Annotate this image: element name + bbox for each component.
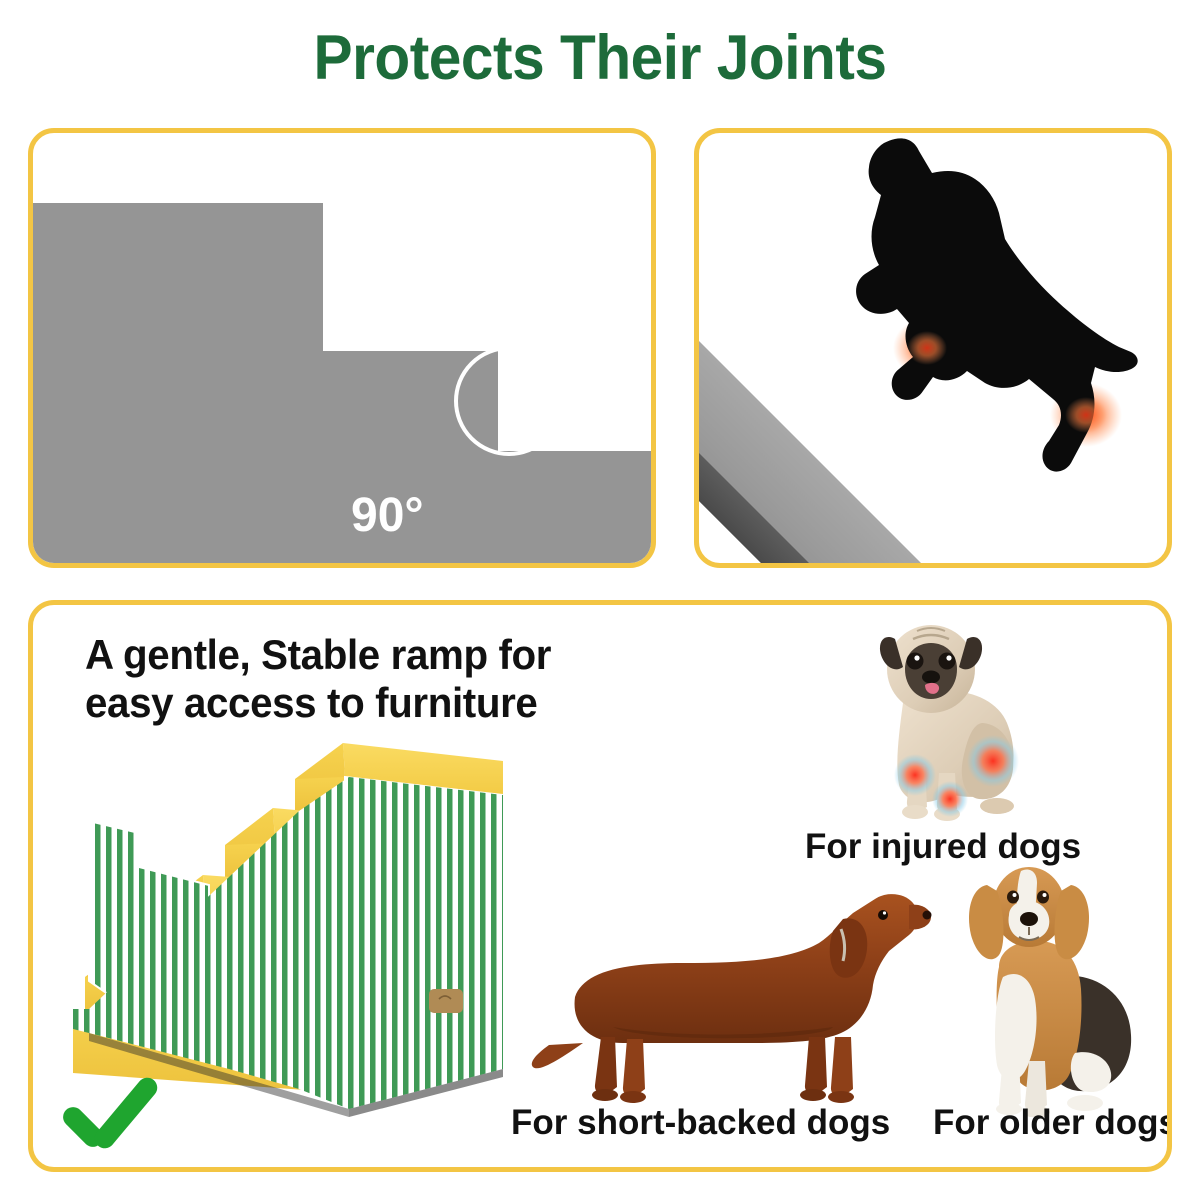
brand-logo-tag [429,989,463,1013]
dog-photo-pug [833,613,1063,838]
stair-riser-tall [28,203,323,568]
right-angle-arc [454,346,564,456]
check-mark-icon [57,1075,177,1165]
dog-photo-beagle [933,857,1163,1117]
ramp-illustration [699,133,1167,563]
angle-label: 90° [351,488,424,543]
pain-glow [967,735,1019,787]
stair-riser-low [493,451,656,568]
panel-product-ramp: A gentle, Stable ramp for easy access to… [28,600,1172,1172]
panel-very-slippery: Very slippery, easy to fall [694,128,1172,568]
stairs-illustration: 90° [33,133,651,563]
page-title: Protects Their Joints [42,22,1158,94]
caption-older-dogs: For older dogs [933,1103,1172,1143]
panel-hard-to-climb: 90° Hard to climb [28,128,656,568]
dog-silhouette [699,133,1172,568]
product-headline-line2: easy access to furniture [85,679,537,726]
pain-glow [932,781,968,817]
dog-photo-dachshund [523,877,943,1107]
product-headline-line1: A gentle, Stable ramp for [85,631,551,678]
infographic-root: Protects Their Joints 90° Hard to climb [0,0,1200,1200]
caption-short-backed-dogs: For short-backed dogs [511,1103,890,1143]
pain-glow [894,754,936,796]
